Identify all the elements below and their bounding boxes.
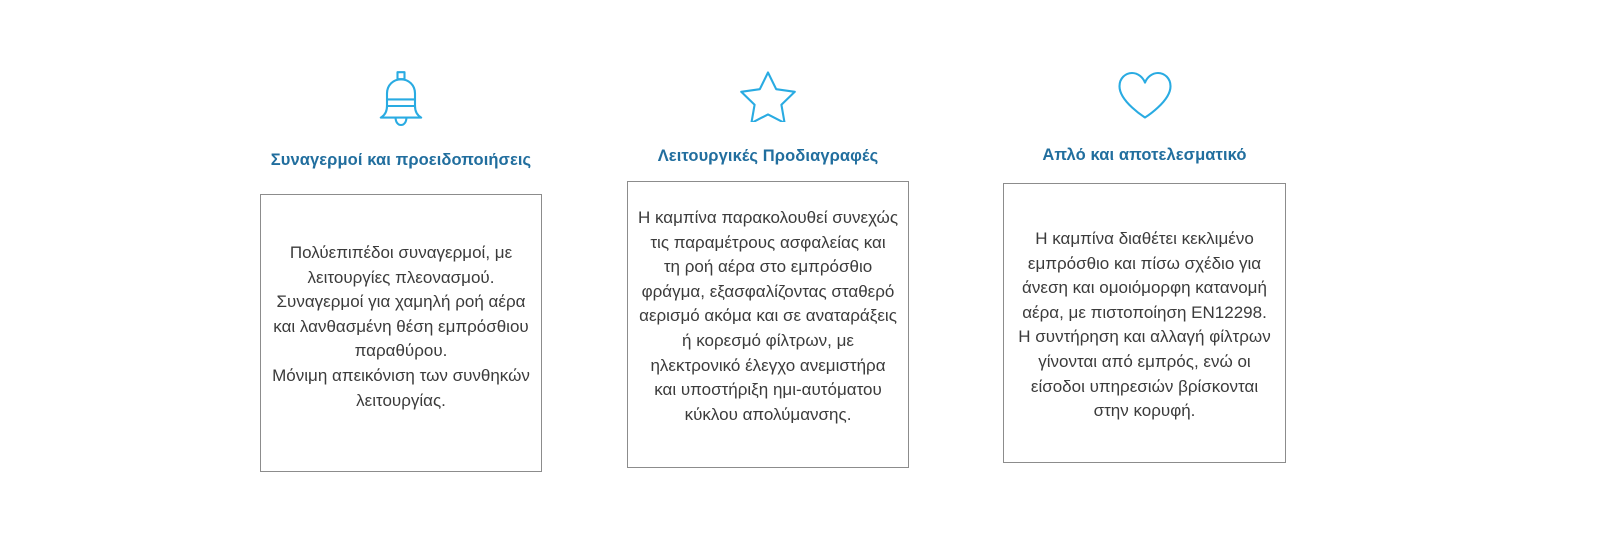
heart-icon: [1116, 70, 1174, 120]
bell-icon: [375, 70, 427, 128]
feature-card-box: Η καμπίνα παρακολουθεί συνεχώς τις παραμ…: [627, 181, 909, 468]
feature-card-box: Πολύεπιπέδοι συναγερμοί, με λειτουργίες …: [260, 194, 542, 472]
star-icon: [738, 70, 798, 122]
feature-card-title: Απλό και αποτελεσματικό: [1042, 146, 1246, 165]
feature-card-specifications: Λειτουργικές Προδιαγραφές Η καμπίνα παρα…: [627, 70, 909, 468]
feature-card-simple-effective: Απλό και αποτελεσματικό Η καμπίνα διαθέτ…: [1003, 70, 1286, 463]
feature-card-box: Η καμπίνα διαθέτει κεκλιμένο εμπρόσθιο κ…: [1003, 183, 1286, 463]
feature-card-body: Η καμπίνα παρακολουθεί συνεχώς τις παραμ…: [634, 206, 902, 427]
feature-card-body: Πολύεπιπέδοι συναγερμοί, με λειτουργίες …: [269, 241, 533, 413]
feature-card-body: Η καμπίνα διαθέτει κεκλιμένο εμπρόσθιο κ…: [1012, 227, 1277, 424]
features-board: Συναγερμοί και προειδοποιήσεις Πολύεπιπέ…: [0, 0, 1600, 545]
feature-card-alarms: Συναγερμοί και προειδοποιήσεις Πολύεπιπέ…: [260, 70, 542, 472]
feature-card-title: Λειτουργικές Προδιαγραφές: [658, 147, 879, 166]
feature-card-title: Συναγερμοί και προειδοποιήσεις: [271, 151, 532, 170]
